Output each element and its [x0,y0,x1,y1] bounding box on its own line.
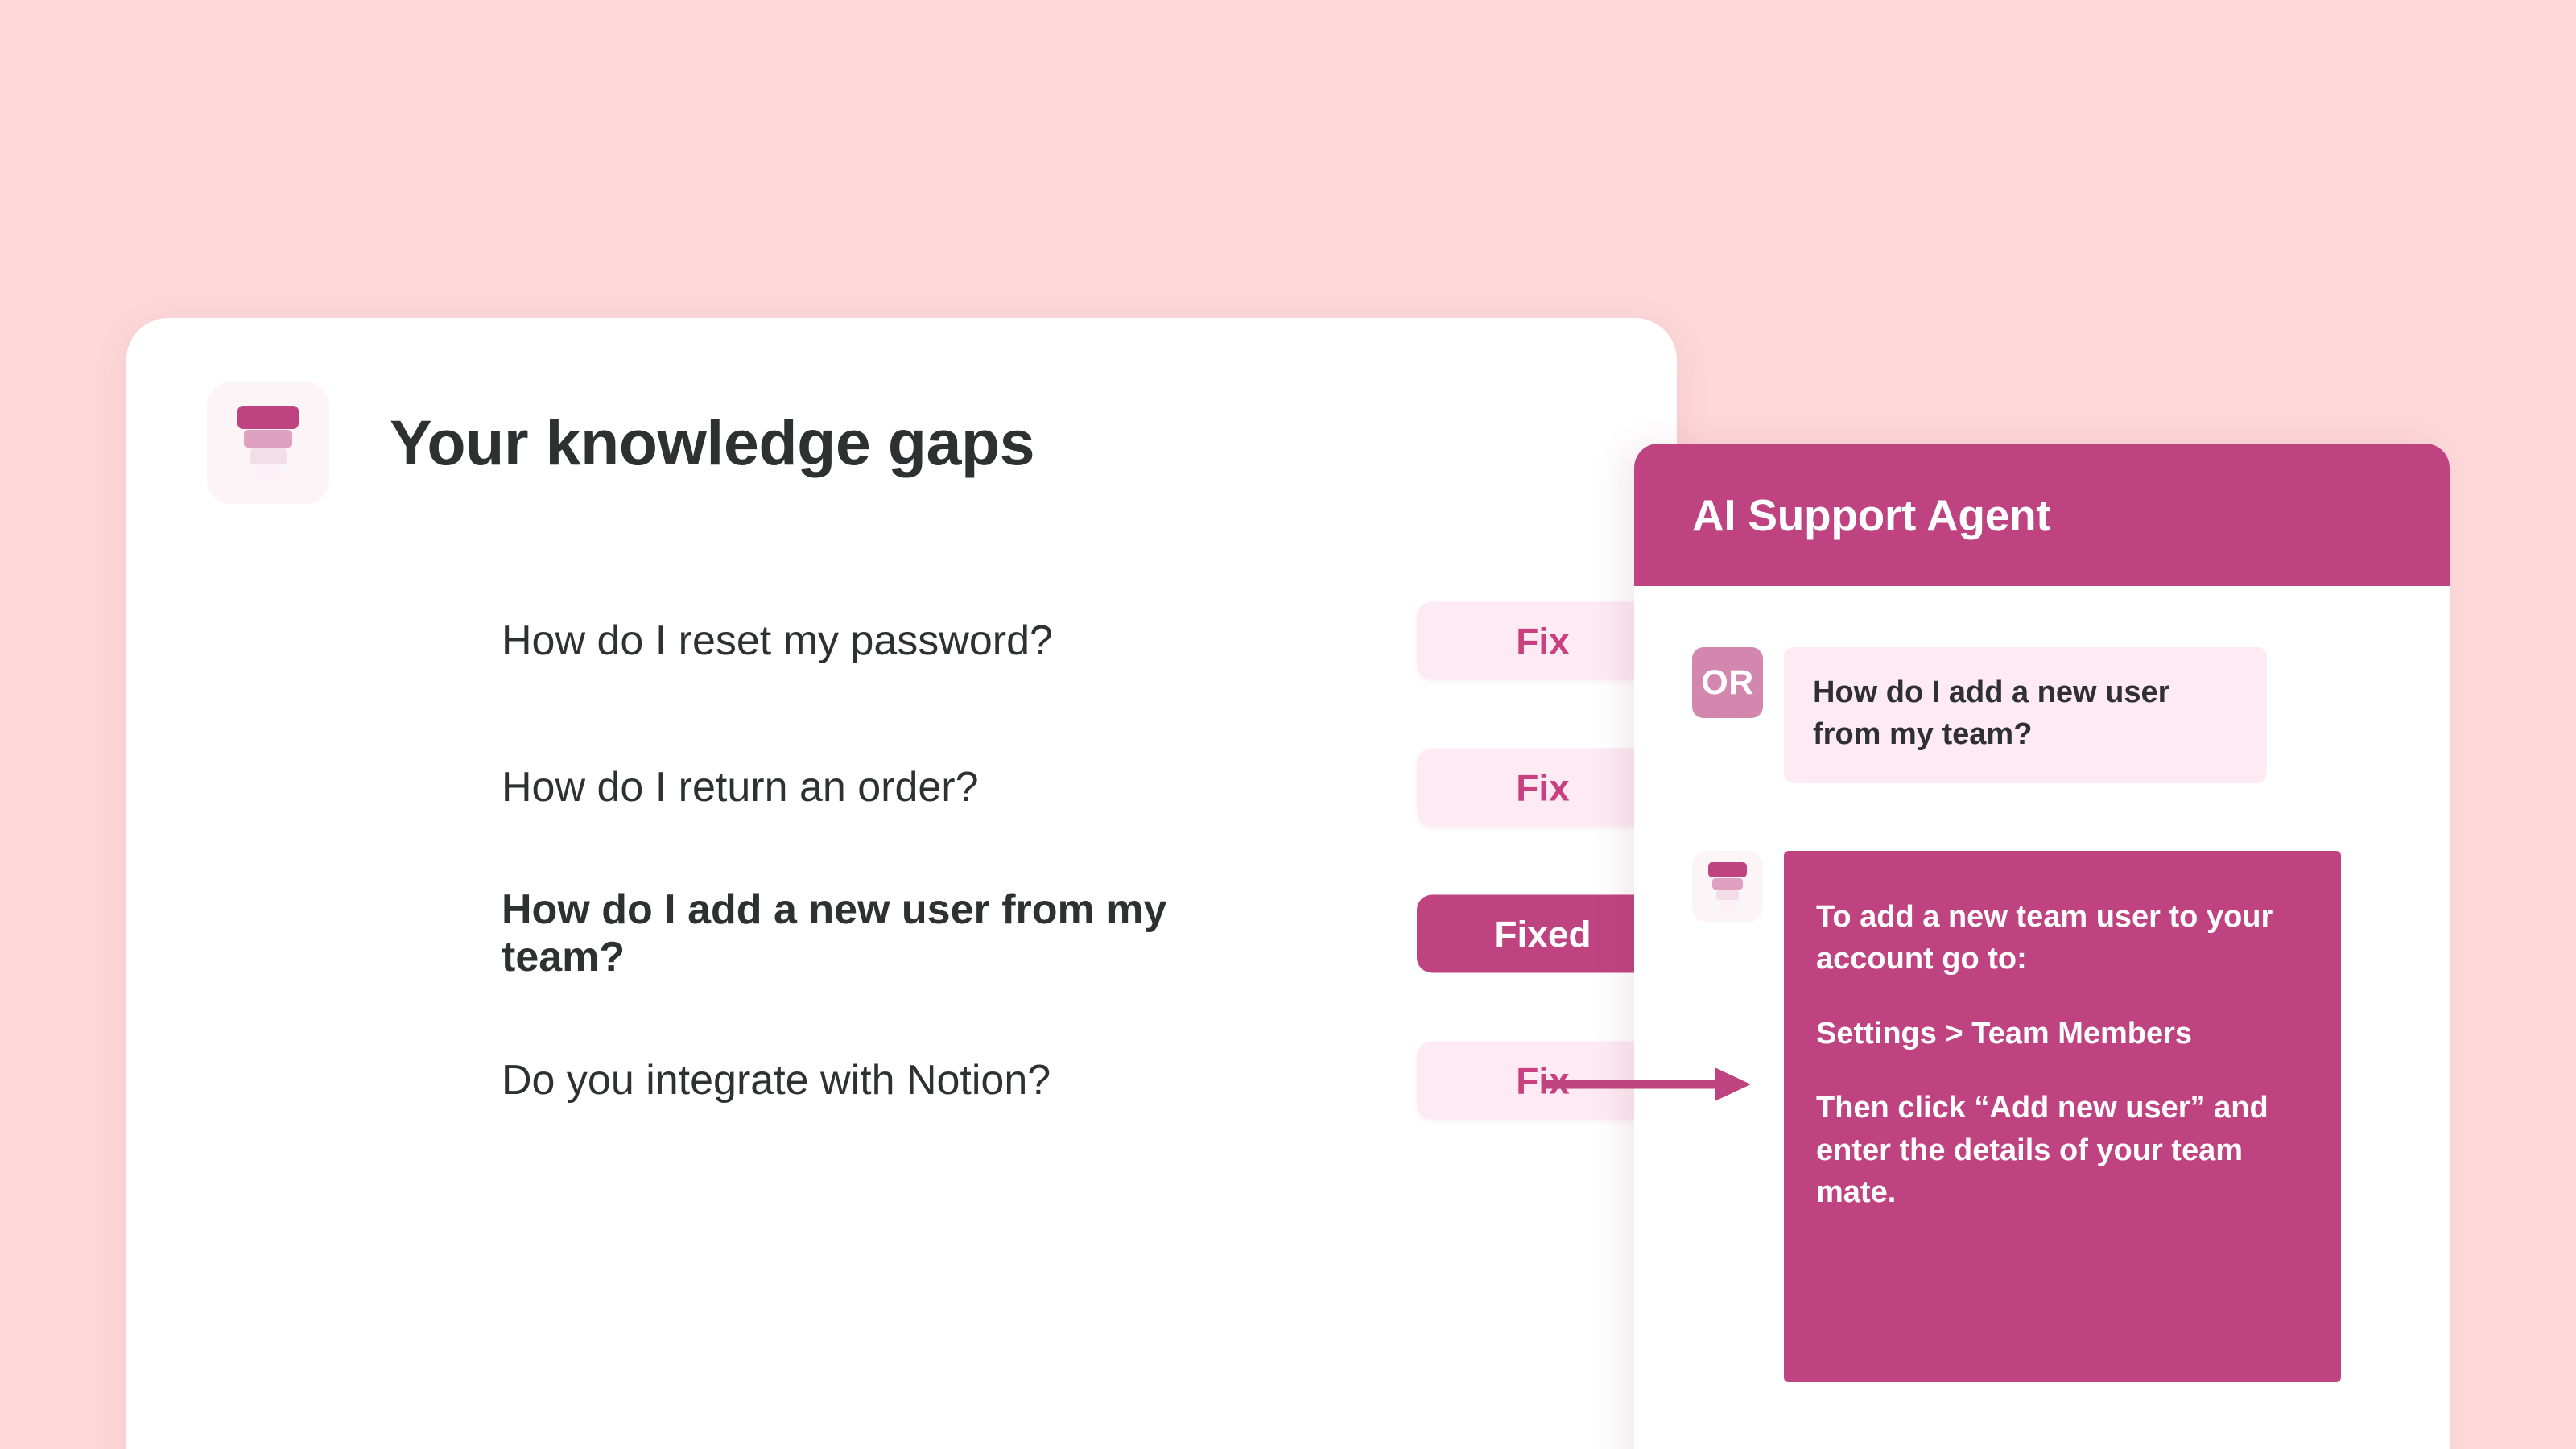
funnel-icon-glyph [1708,862,1747,910]
funnel-bar-2 [244,430,292,448]
gap-question: How do I return an order? [502,764,1331,811]
chat-bubble-bot: To add a new team user to your account g… [1784,851,2341,1382]
knowledge-gaps-card: Your knowledge gaps How do I reset my pa… [126,318,1677,1449]
chat-thread: OR How do I add a new user from my team?… [1634,586,2450,1382]
chat-bubble-user: How do I add a new user from my team? [1784,647,2267,783]
gap-question: How do I add a new user from my team? [502,886,1331,981]
user-avatar: OR [1692,647,1763,718]
fixed-status-button[interactable]: Fixed [1417,895,1669,973]
ai-support-agent-panel: AI Support Agent OR How do I add a new u… [1634,444,2450,1449]
list-item: How do I return an order? Fix [126,714,1677,861]
chat-message-bot: To add a new team user to your account g… [1634,851,2450,1382]
gap-question: How do I reset my password? [502,617,1331,665]
list-item: Do you integrate with Notion? Fix [126,1007,1677,1154]
funnel-bar-3 [1716,890,1739,900]
chat-bubble-paragraph: Then click “Add new user” and enter the … [1816,1087,2307,1213]
agent-panel-title: AI Support Agent [1692,489,2050,541]
fix-button[interactable]: Fix [1417,1042,1669,1120]
funnel-bar-3 [250,448,287,464]
funnel-icon-glyph [237,406,299,481]
funnel-icon [207,382,329,504]
page-title: Your knowledge gaps [390,406,1034,480]
list-item: How do I add a new user from my team? Fi… [126,861,1677,1007]
funnel-bar-1 [237,406,299,429]
fix-button[interactable]: Fix [1417,749,1669,827]
chat-bubble-paragraph: To add a new team user to your account g… [1816,896,2307,980]
fix-button[interactable]: Fix [1417,602,1669,680]
knowledge-gaps-list: How do I reset my password? Fix How do I… [126,568,1677,1154]
funnel-bar-4 [1720,901,1736,910]
agent-panel-header: AI Support Agent [1634,444,2450,586]
funnel-bar-4 [256,465,280,480]
chat-message-user: OR How do I add a new user from my team? [1634,647,2450,783]
funnel-bar-1 [1708,862,1747,877]
funnel-bar-2 [1712,878,1743,890]
list-item: How do I reset my password? Fix [126,568,1677,714]
knowledge-gaps-header: Your knowledge gaps [126,318,1677,568]
funnel-icon [1692,851,1763,922]
gap-question: Do you integrate with Notion? [502,1057,1331,1104]
chat-bubble-paragraph: Settings > Team Members [1816,1013,2307,1055]
